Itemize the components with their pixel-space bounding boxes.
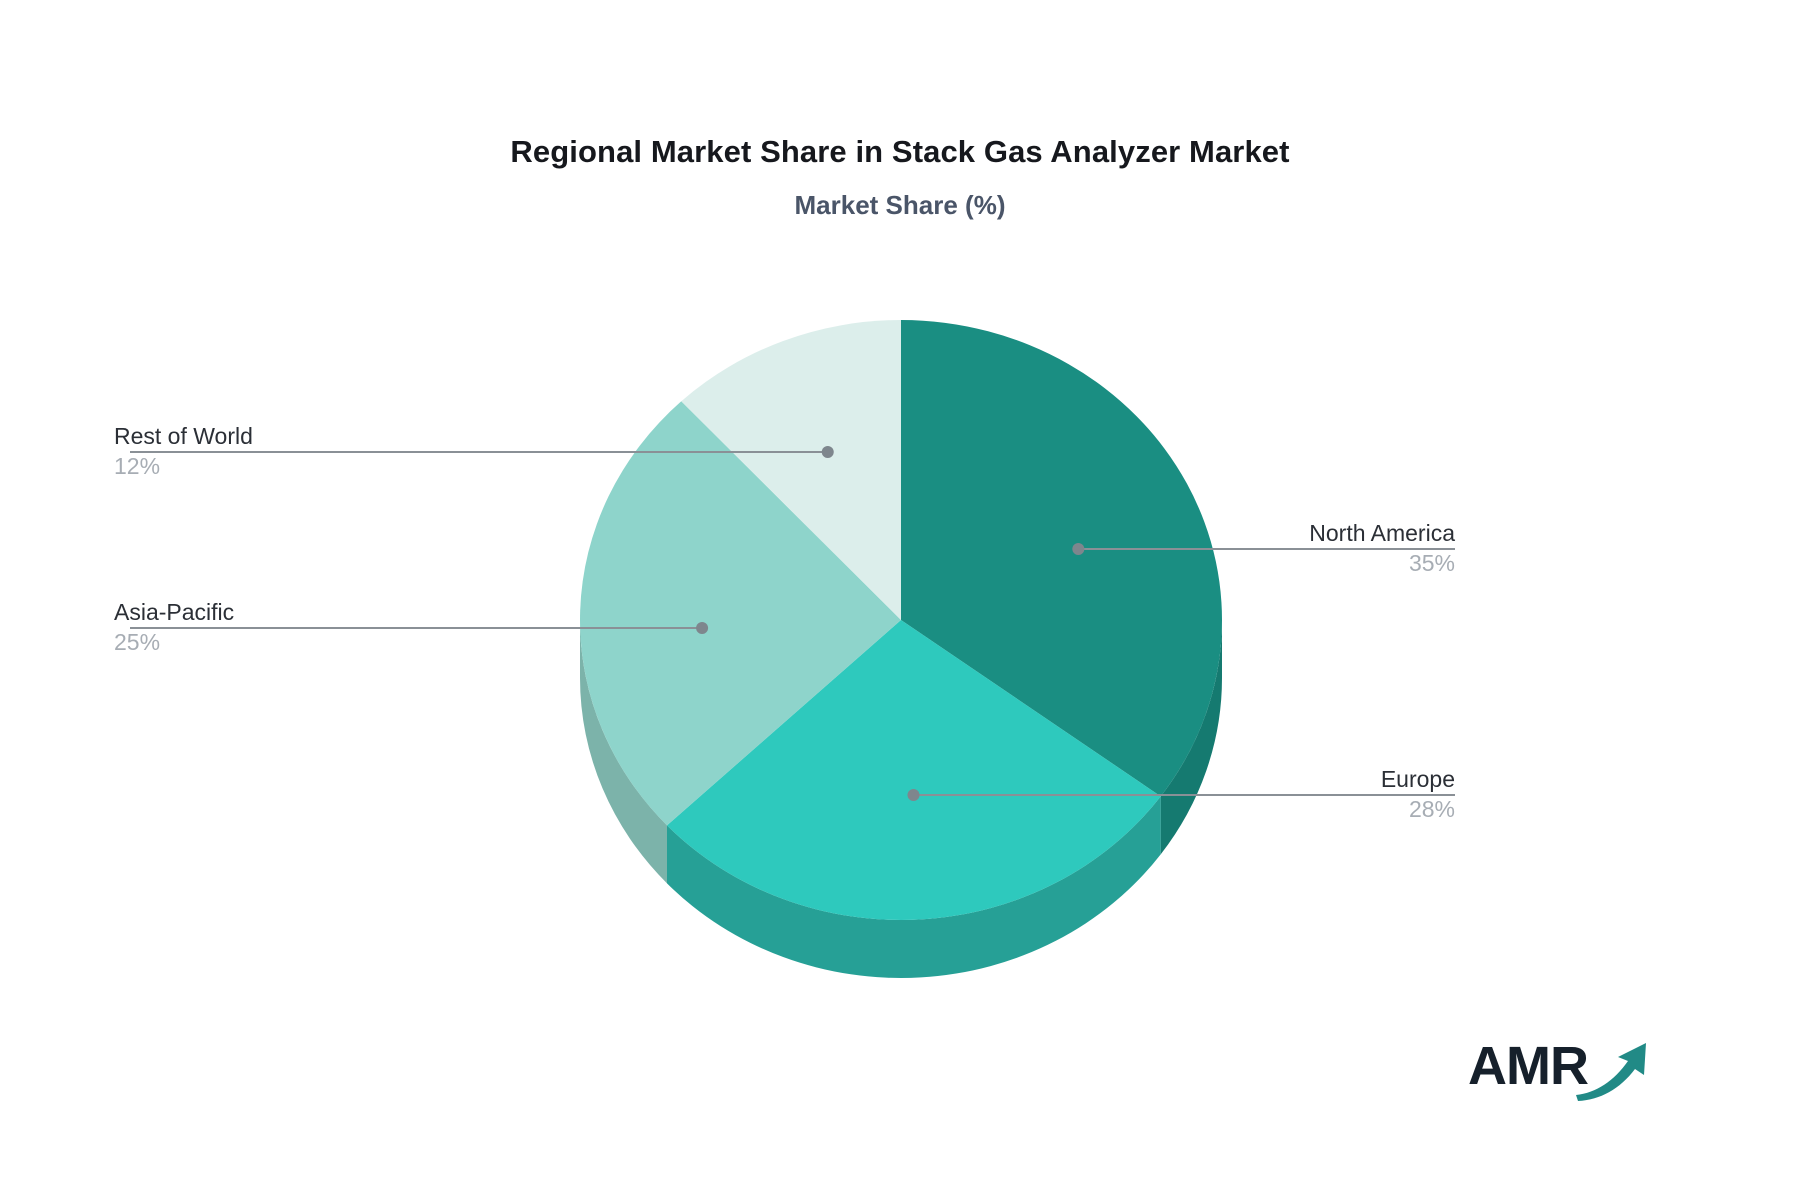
callout-value: 12% xyxy=(114,451,534,481)
callout-label: Rest of World xyxy=(114,421,534,451)
callout-europe: Europe 28% xyxy=(1035,764,1455,824)
leader-dot xyxy=(696,622,708,634)
leader-dot xyxy=(907,789,919,801)
callout-label: North America xyxy=(1035,518,1455,548)
amr-logo-text: AMR xyxy=(1468,1035,1588,1097)
chart-canvas: Regional Market Share in Stack Gas Analy… xyxy=(0,0,1800,1196)
callout-rest-of-world: Rest of World 12% xyxy=(114,421,534,481)
leader-dot xyxy=(822,446,834,458)
pie-slices-group xyxy=(580,320,1222,978)
callout-value: 35% xyxy=(1035,548,1455,578)
callout-north-america: North America 35% xyxy=(1035,518,1455,578)
callout-label: Asia-Pacific xyxy=(114,597,534,627)
callout-value: 28% xyxy=(1035,794,1455,824)
callout-label: Europe xyxy=(1035,764,1455,794)
amr-logo: AMR xyxy=(1468,1029,1658,1105)
callout-asia-pacific: Asia-Pacific 25% xyxy=(114,597,534,657)
callout-value: 25% xyxy=(114,627,534,657)
